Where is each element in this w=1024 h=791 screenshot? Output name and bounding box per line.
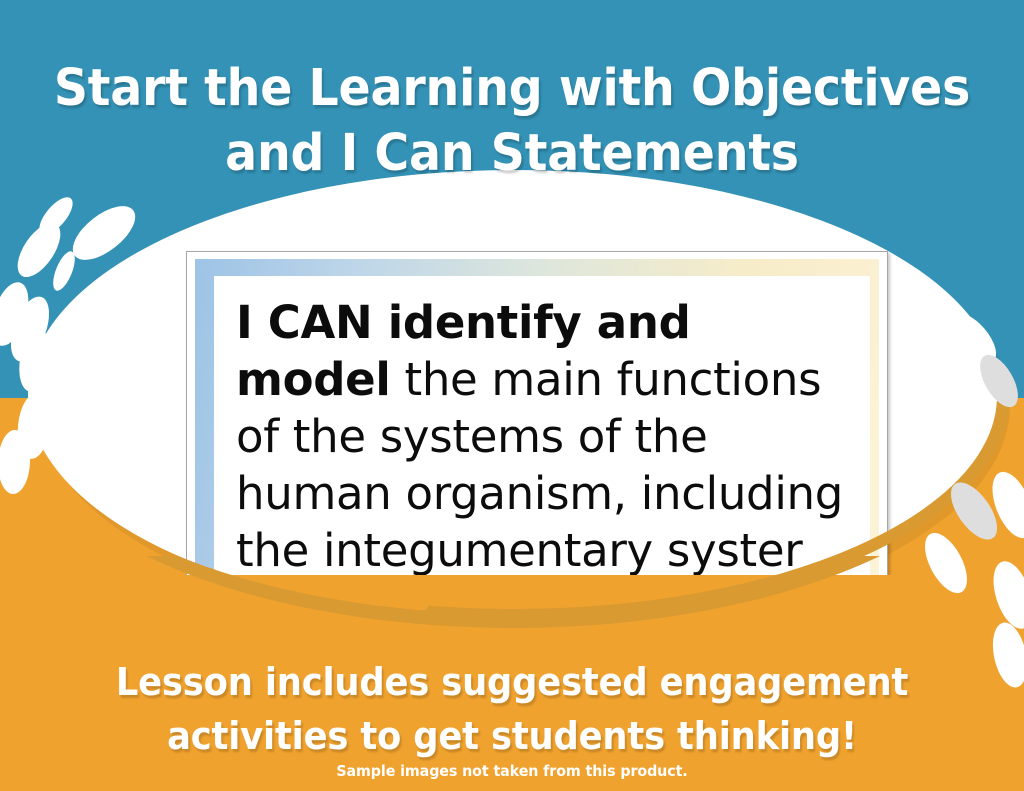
footer-headline-line-2: activities to get students thinking! <box>36 709 988 763</box>
page-title-line-2: and I Can Statements <box>36 121 988 186</box>
disclaimer-caption: Sample images not taken from this produc… <box>26 762 999 780</box>
footer-headline-line-1: Lesson includes suggested engagement <box>36 655 988 709</box>
page-title: Start the Learning with Objectives and I… <box>36 56 988 186</box>
page-title-line-1: Start the Learning with Objectives <box>36 56 988 121</box>
slide-canvas: I CAN identify and model the main functi… <box>0 0 1024 791</box>
footer-headline: Lesson includes suggested engagement act… <box>36 655 988 763</box>
